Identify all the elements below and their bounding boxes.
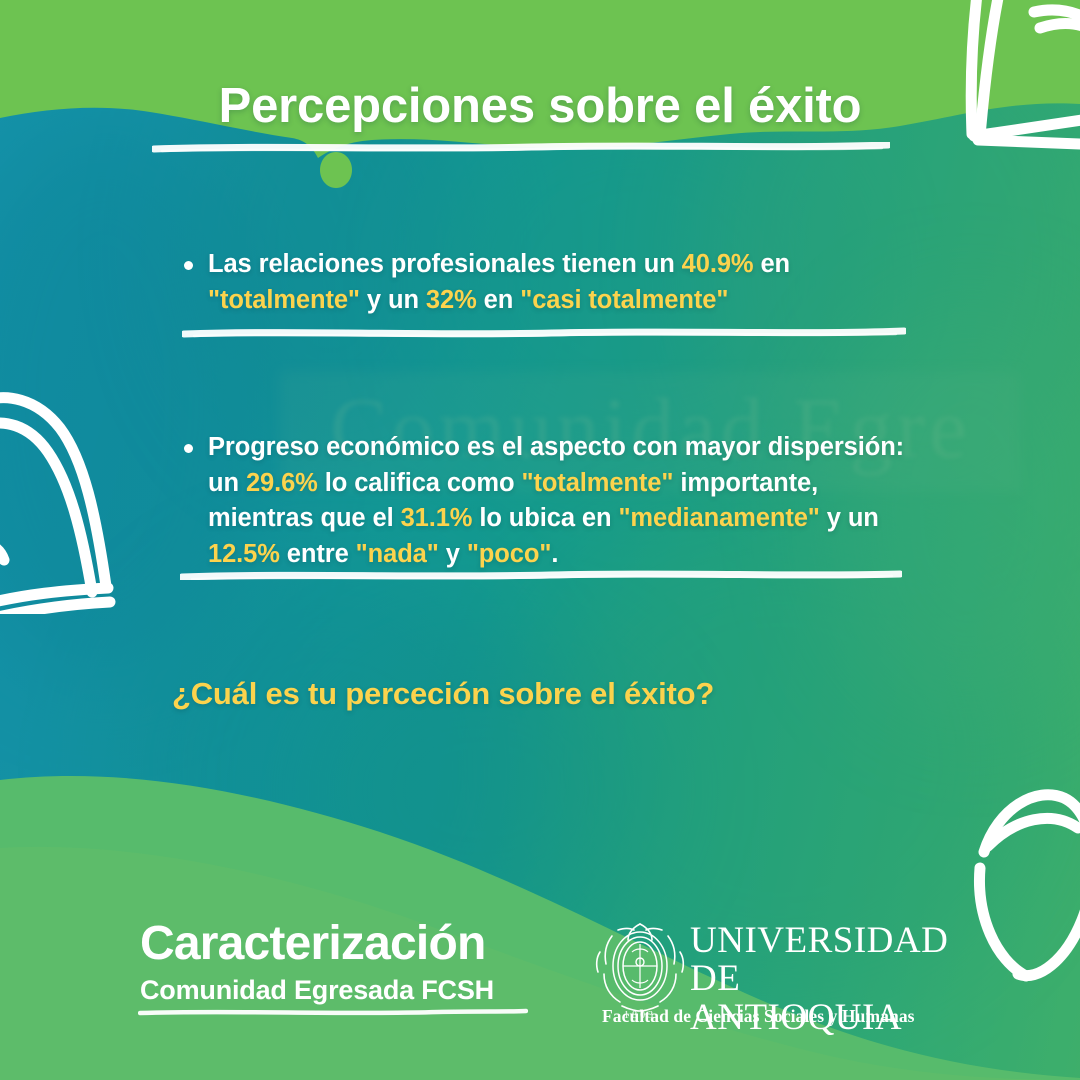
body-text: lo califica como (318, 469, 522, 497)
highlighted-value: 32% (426, 286, 477, 314)
body-text: Las relaciones profesionales tienen un (208, 250, 682, 278)
bullet-item-2: Progreso económico es el aspecto con may… (208, 430, 928, 573)
brand-subtitle: Comunidad Egresada FCSH (140, 975, 494, 1006)
brush-rule-title (152, 142, 890, 153)
bullet-dot-icon (184, 261, 193, 270)
highlighted-value: 40.9% (682, 250, 754, 278)
body-text: en (477, 286, 521, 314)
udea-name-line1: UNIVERSIDAD (690, 922, 952, 960)
footer-brand: Caracterización Comunidad Egresada FCSH (140, 920, 494, 1006)
udea-faculty: Facultad de Ciencias Sociales y Humanas (602, 1006, 915, 1027)
body-text: . (551, 540, 558, 568)
highlighted-value: 31.1% (401, 504, 473, 532)
highlighted-value: "totalmente" (208, 286, 360, 314)
bullet-2-text: Progreso económico es el aspecto con may… (208, 433, 904, 568)
highlighted-value: 29.6% (246, 469, 318, 497)
udea-crest-icon (592, 918, 688, 1018)
highlighted-value: "nada" (356, 540, 439, 568)
call-to-action-question: ¿Cuál es tu perceción sobre el éxito? (172, 676, 714, 712)
highlighted-value: "casi totalmente" (520, 286, 728, 314)
brush-rule-footer (138, 1008, 528, 1016)
highlighted-value: "poco" (467, 540, 552, 568)
brand-title: Caracterización (140, 920, 494, 969)
highlighted-value: "totalmente" (521, 469, 673, 497)
brush-rule-2 (180, 569, 902, 580)
bullet-1-text: Las relaciones profesionales tienen un 4… (208, 250, 790, 314)
infographic-canvas: Comunidad Egre (0, 0, 1080, 1080)
highlighted-value: "medianamente" (618, 504, 819, 532)
highlighted-value: 12.5% (208, 540, 280, 568)
university-logo: 1803 UNIVERSIDAD DE ANTIOQUIA Facultad d… (592, 918, 952, 1030)
page-title: Percepciones sobre el éxito (0, 78, 1080, 134)
bullet-item-1: Las relaciones profesionales tienen un 4… (208, 247, 908, 318)
bullet-dot-icon (184, 444, 193, 453)
body-text: y un (820, 504, 879, 532)
body-text: y un (360, 286, 426, 314)
body-text: y (439, 540, 467, 568)
brush-rule-1 (182, 327, 906, 338)
body-text: entre (280, 540, 356, 568)
body-text: en (753, 250, 790, 278)
body-text: lo ubica en (472, 504, 618, 532)
